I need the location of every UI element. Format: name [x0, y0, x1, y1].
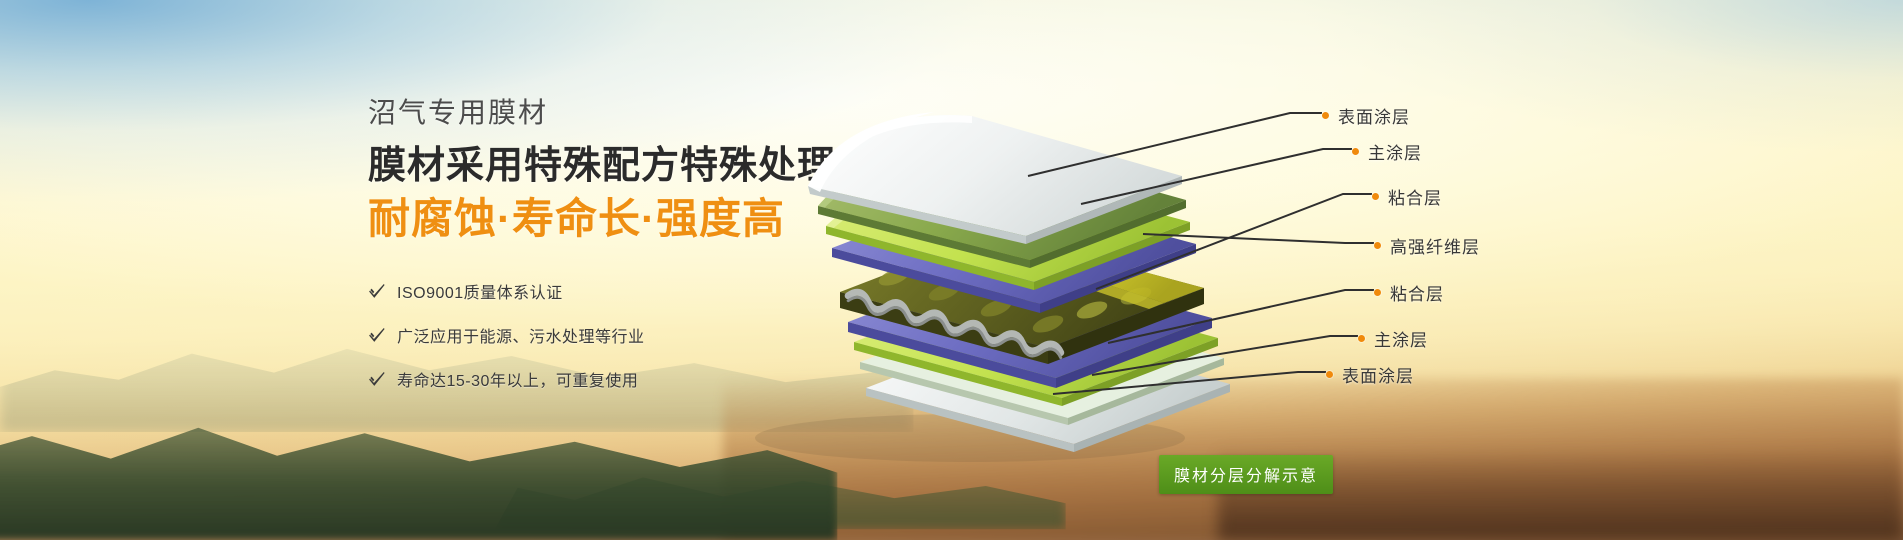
- feature-label: 广泛应用于能源、污水处理等行业: [397, 323, 645, 347]
- feature-label: 寿命达15-30年以上，可重复使用: [397, 367, 638, 391]
- promo-banner: 沼气专用膜材 膜材采用特殊配方特殊处理 耐腐蚀·寿命长·强度高 ISO9001质…: [0, 0, 1903, 540]
- callout-dot-icon: [1326, 371, 1333, 378]
- callout-dot-icon: [1352, 148, 1359, 155]
- callout-surface-coating-top: 表面涂层: [1322, 103, 1410, 128]
- callout-label: 表面涂层: [1342, 362, 1414, 387]
- callout-adhesive-top: 粘合层: [1372, 184, 1442, 209]
- callout-label: 主涂层: [1368, 139, 1422, 164]
- callout-label: 粘合层: [1388, 184, 1442, 209]
- callout-dot-icon: [1374, 289, 1381, 296]
- callout-high-strength-fiber: 高强纤维层: [1374, 233, 1480, 258]
- check-icon: [368, 326, 386, 344]
- callout-dot-icon: [1374, 242, 1381, 249]
- callout-surface-coating-bottom: 表面涂层: [1326, 362, 1414, 387]
- check-icon: [368, 370, 386, 388]
- callout-main-coat-top: 主涂层: [1352, 139, 1422, 164]
- callout-label: 高强纤维层: [1390, 233, 1480, 258]
- diagram-caption-badge: 膜材分层分解示意: [1159, 455, 1333, 494]
- callout-dot-icon: [1322, 112, 1329, 119]
- callout-label: 表面涂层: [1338, 103, 1410, 128]
- callout-label: 主涂层: [1374, 326, 1428, 351]
- feature-label: ISO9001质量体系认证: [397, 279, 563, 303]
- membrane-exploded-illustration: [670, 88, 1290, 468]
- check-icon: [368, 282, 386, 300]
- callout-main-coat-bottom: 主涂层: [1358, 326, 1428, 351]
- callout-label: 粘合层: [1390, 280, 1444, 305]
- callout-dot-icon: [1372, 193, 1379, 200]
- callout-dot-icon: [1358, 335, 1365, 342]
- callout-adhesive-bottom: 粘合层: [1374, 280, 1444, 305]
